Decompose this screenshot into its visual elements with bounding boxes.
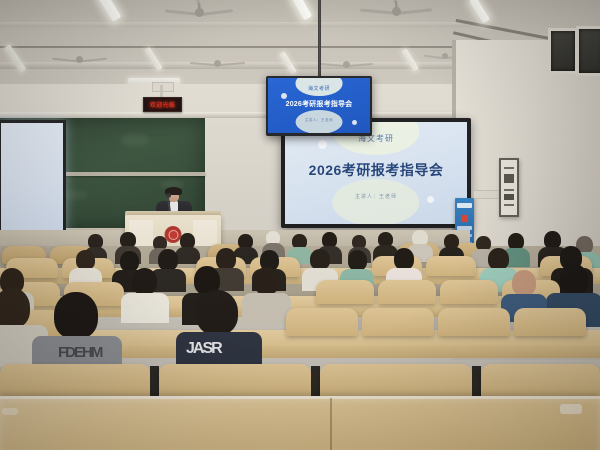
slide-title-text: 2026考研报考指导会 <box>285 160 467 180</box>
tv-title-text: 2026考研报考指导会 <box>268 99 370 109</box>
chair-gap <box>150 366 159 400</box>
led-sign-housing <box>152 82 174 92</box>
chair-gap <box>311 366 320 400</box>
ceiling-rail <box>0 46 470 48</box>
desk-paper-scrap <box>2 408 18 415</box>
slide-arc-bottom <box>332 179 419 224</box>
tv-subtitle-text: 主讲人：王老师 <box>268 118 370 123</box>
chair-back <box>514 308 586 336</box>
desk-seam <box>330 398 332 450</box>
lecture-hall-photo: 欢迎光临 海文考研 2026考研报考指导会 主讲人：王老师 海文考研 2026考… <box>0 0 600 450</box>
jacket-graphic: JASR <box>186 340 262 360</box>
chair-back <box>320 364 472 400</box>
framed-wall-poster <box>499 158 519 217</box>
projection-screen: 海文考研 2026考研报考指导会 主讲人：王老师 <box>285 122 467 224</box>
window <box>576 26 600 76</box>
tv-screen: 海文考研 2026考研报考指导会 主讲人：王老师 <box>268 78 370 133</box>
foreground-desk <box>0 396 600 450</box>
led-sign-text: 欢迎光临 <box>144 98 181 111</box>
chair-back <box>159 364 311 400</box>
slide-subtitle-text: 主讲人：王老师 <box>285 193 467 200</box>
led-scrolling-sign: 欢迎光临 <box>143 97 182 112</box>
chair-back <box>286 308 358 336</box>
wall-mounted-tv: 海文考研 2026考研报考指导会 主讲人：王老师 <box>266 76 372 136</box>
chalk-smudge <box>120 134 150 146</box>
desk-paper-scrap <box>560 404 582 414</box>
ceiling-fan <box>52 52 108 66</box>
ceiling-fan <box>190 56 246 70</box>
chair-back <box>378 280 436 304</box>
chair-back <box>362 308 434 336</box>
hoodie-graphic: FDEHM <box>58 344 124 362</box>
desk-edge-highlight <box>0 396 600 399</box>
ceiling-beam <box>0 22 470 27</box>
chair-back <box>0 364 150 400</box>
ceiling-fan <box>320 58 374 71</box>
chair-back <box>316 280 374 304</box>
chair-gap <box>472 366 481 400</box>
chair-back <box>426 256 476 276</box>
window <box>548 28 578 74</box>
ceiling-fan <box>165 3 235 21</box>
tv-brand-text: 海文考研 <box>268 85 370 92</box>
university-crest-emblem <box>165 226 182 243</box>
chair-back <box>481 364 600 400</box>
chair-back <box>440 280 498 304</box>
ceiling-fan <box>360 1 434 19</box>
emblem-inner-ring <box>168 230 178 240</box>
left-projection-screen <box>0 120 66 244</box>
chair-back <box>438 308 510 336</box>
